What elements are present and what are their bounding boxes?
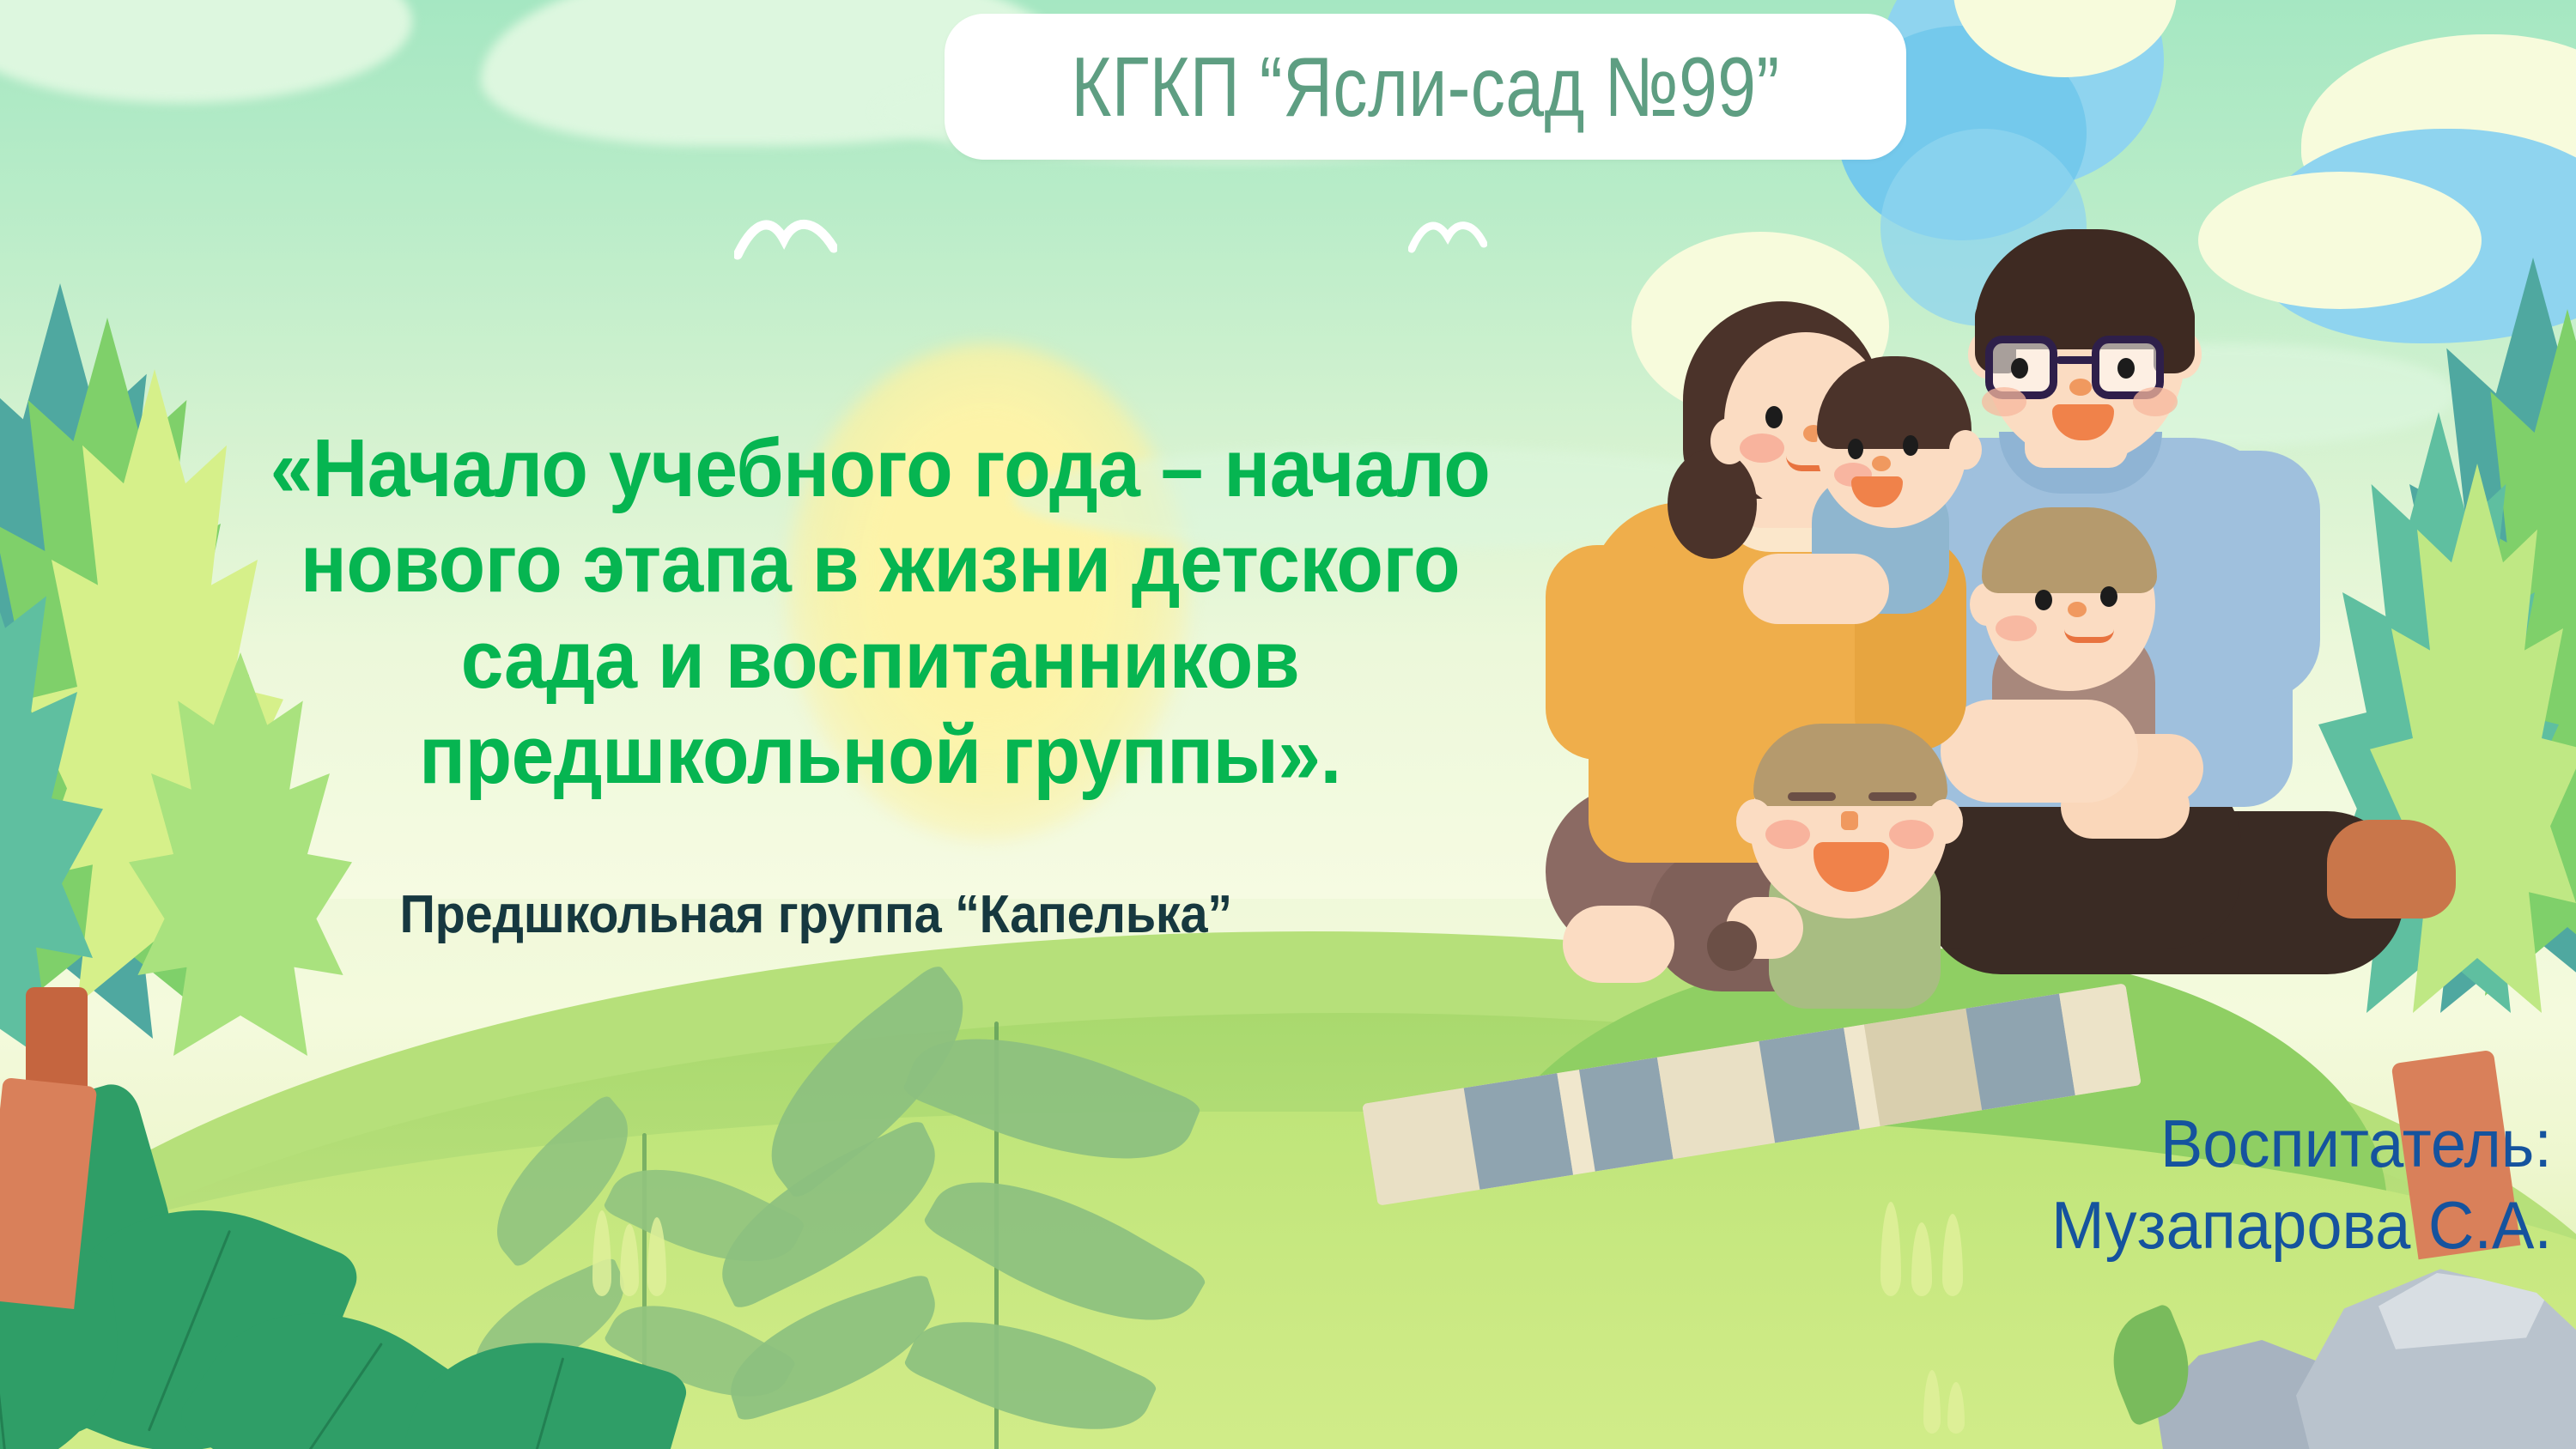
father-eye-left [2011,358,2028,379]
quote-line-1: «Начало учебного года – начало [197,421,1563,516]
grass-baby-brow-left [1788,792,1836,801]
father-hands-holding-baby [1941,700,2138,803]
bird-icon-2 [1408,215,1487,258]
grass-baby-cheek-left [1765,820,1810,849]
group-subtitle: Предшкольная группа “Капелька” [146,884,1485,945]
teacher-credit: Воспитатель: Музапарова С.А. [1693,1103,2552,1266]
credit-label: Воспитатель: [1736,1103,2552,1185]
bird-icon-1 [734,210,837,265]
credit-name: Музапарова С.А. [1736,1185,2552,1266]
baby-lap-cheek [1996,615,2037,641]
baby-lap-eye-right [2100,586,2117,607]
mother-foot [1563,906,1674,983]
group-name: Предшкольная группа “Капелька” [399,884,1231,945]
baby-lap-mouth [2064,629,2114,643]
grass-baby-rattle [1707,921,1757,971]
mother-cheek [1740,433,1784,463]
poster-canvas: КГКП “Ясли-сад №99” «Начало учебного год… [0,0,2576,1449]
father-foot [2327,820,2456,919]
grass-baby-brow-right [1868,792,1917,801]
quote-line-2: нового этапа в жизни детского [197,516,1563,611]
fern-plant-center [756,1022,1236,1449]
institution-badge: КГКП “Ясли-сад №99” [945,14,1906,160]
grass-baby-nose [1841,811,1858,830]
toddler-eye-left [1848,439,1863,459]
grass-baby-hair [1753,724,1947,806]
toddler-ear [1949,430,1982,470]
baby-lap-eye-left [2035,590,2052,610]
toddler-nose [1872,456,1891,471]
quote-line-4: предшкольной группы». [197,707,1563,803]
father-cheek-right [2133,387,2178,416]
baby-lap-nose [2068,602,2087,617]
mother-eye-left [1765,406,1783,428]
mother-ponytail [1668,449,1757,559]
toddler-arm [1743,554,1889,624]
father-cheek-left [1982,387,2026,416]
institution-name: КГКП “Ясли-сад №99” [1072,39,1780,136]
grass-tuft-1 [592,1202,670,1296]
family-illustration [1614,219,2524,1026]
quote-line-3: сада и воспитанников [197,612,1563,707]
main-quote: «Начало учебного года – начало нового эт… [146,421,1614,803]
grass-baby-cheek-right [1889,820,1934,849]
father-glasses-bridge [2056,356,2095,364]
grass-tuft-3 [1923,1365,1984,1434]
toddler-eye-right [1903,435,1918,456]
pine-tree-left-outer [0,532,103,1064]
father-sleeve-right [2191,451,2320,700]
father-eye-right [2117,358,2135,379]
father-nose [2069,379,2092,396]
